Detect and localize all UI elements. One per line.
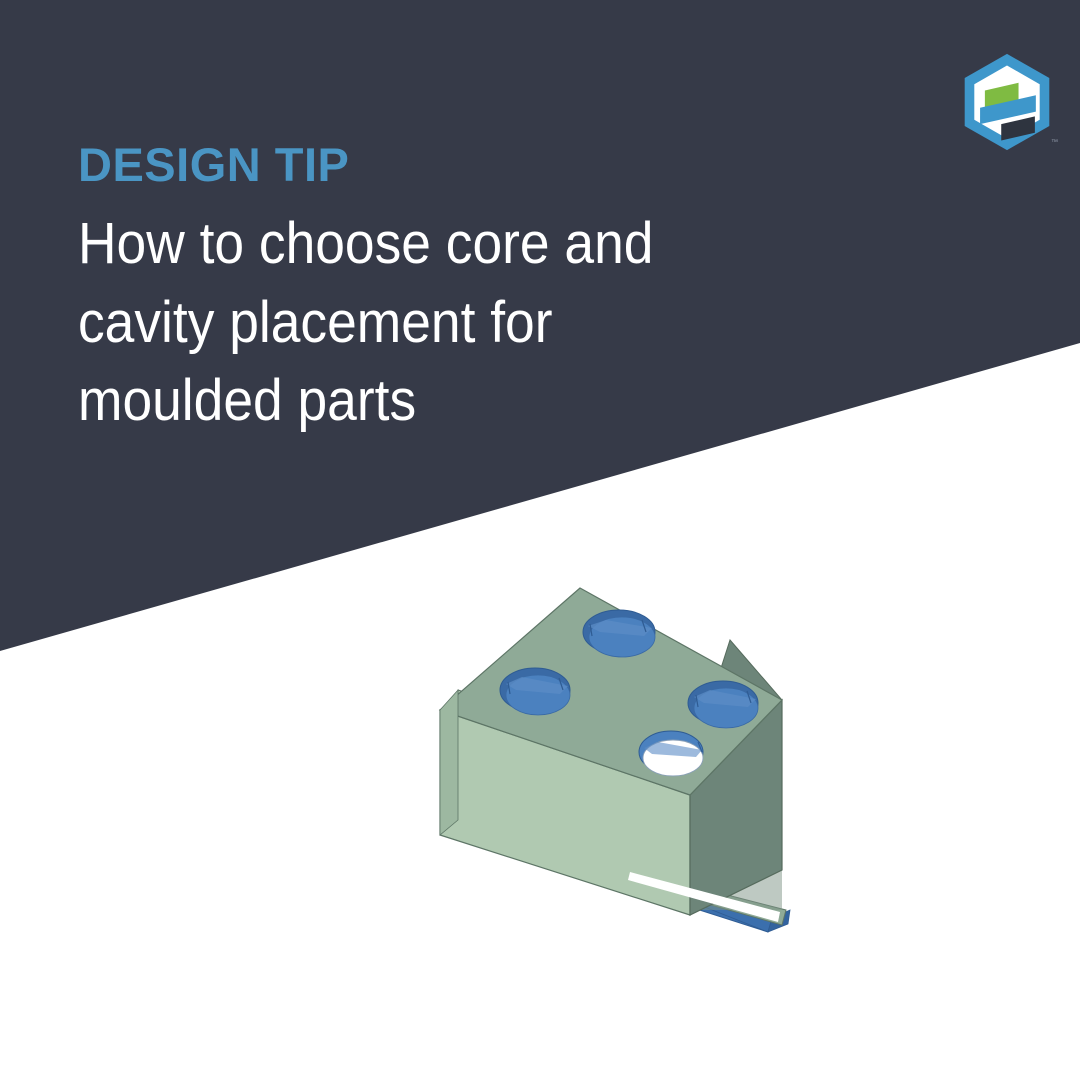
moulded-block-3d-render <box>430 580 910 980</box>
design-tip-card: DESIGN TIP How to choose core and cavity… <box>0 0 1080 1081</box>
moulded-block-illustration <box>430 580 910 980</box>
text-block: DESIGN TIP How to choose core and cavity… <box>78 140 798 440</box>
headline-line-1: How to choose core and <box>78 205 740 283</box>
headline-line-2: cavity placement for <box>78 284 740 362</box>
brand-logo[interactable]: ™ <box>958 52 1056 152</box>
eyebrow-label: DESIGN TIP <box>78 140 798 189</box>
block-left-draft-face <box>440 690 458 835</box>
hexagon-logo-icon <box>958 52 1056 152</box>
page-title: How to choose core and cavity placement … <box>78 205 740 440</box>
trademark-symbol: ™ <box>1051 139 1058 146</box>
headline-line-3: moulded parts <box>78 362 740 440</box>
